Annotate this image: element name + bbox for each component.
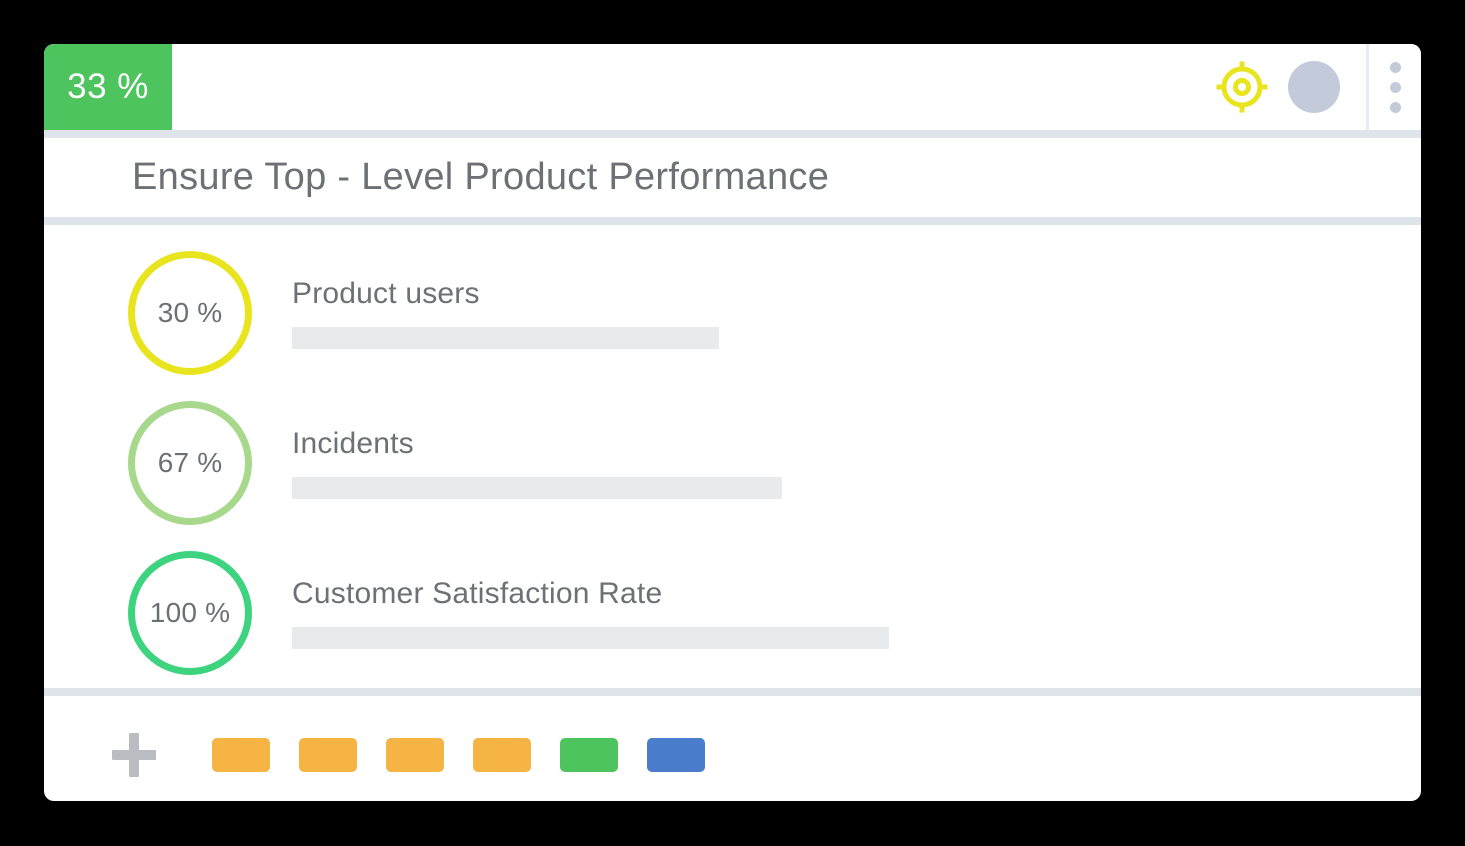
footer-top-divider <box>44 688 1421 696</box>
target-crosshair-icon <box>1216 61 1268 113</box>
header-bottom-divider <box>44 130 1421 138</box>
tag-chip[interactable] <box>647 738 705 772</box>
kebab-dot-icon <box>1390 62 1401 73</box>
key-result-progress-ring: 100 % <box>128 551 252 675</box>
objective-title: Ensure Top - Level Product Performance <box>132 156 829 199</box>
title-bottom-divider <box>44 217 1421 225</box>
key-result-progress-ring: 30 % <box>128 251 252 375</box>
key-result-name: Product users <box>292 277 719 311</box>
kebab-dot-icon <box>1390 102 1401 113</box>
tag-chip[interactable] <box>473 738 531 772</box>
card-header: 33 % <box>44 44 1421 130</box>
key-result-progress-ring: 67 % <box>128 401 252 525</box>
add-button[interactable] <box>112 733 156 777</box>
key-result-progress-bar <box>292 327 719 349</box>
tag-chip[interactable] <box>560 738 618 772</box>
objective-progress-badge: 33 % <box>44 44 172 130</box>
card-footer <box>44 696 1421 801</box>
header-actions <box>1214 44 1421 130</box>
key-result-name: Customer Satisfaction Rate <box>292 577 889 611</box>
key-result-percent-label: 67 % <box>158 447 223 479</box>
key-result-percent-label: 100 % <box>150 597 230 629</box>
objective-progress-label: 33 % <box>67 67 149 107</box>
tag-chip[interactable] <box>386 738 444 772</box>
kebab-menu-button[interactable] <box>1369 44 1421 130</box>
tag-chip[interactable] <box>299 738 357 772</box>
key-results-list: 30 % Product users 67 % Incidents 100 % … <box>44 225 1421 688</box>
key-result-progress-bar <box>292 477 782 499</box>
objective-title-row: Ensure Top - Level Product Performance <box>44 138 1421 217</box>
key-result-body: Product users <box>292 277 719 349</box>
kebab-dot-icon <box>1390 82 1401 93</box>
key-result-row[interactable]: 100 % Customer Satisfaction Rate <box>44 538 1421 688</box>
key-result-progress-bar <box>292 627 889 649</box>
avatar[interactable] <box>1288 61 1340 113</box>
key-result-body: Customer Satisfaction Rate <box>292 577 889 649</box>
tag-chip[interactable] <box>212 738 270 772</box>
key-result-body: Incidents <box>292 427 782 499</box>
key-result-name: Incidents <box>292 427 782 461</box>
key-result-row[interactable]: 67 % Incidents <box>44 388 1421 538</box>
objective-card: 33 % Ens <box>44 44 1421 801</box>
key-result-row[interactable]: 30 % Product users <box>44 238 1421 388</box>
key-result-percent-label: 30 % <box>158 297 223 329</box>
target-icon-button[interactable] <box>1214 59 1270 115</box>
